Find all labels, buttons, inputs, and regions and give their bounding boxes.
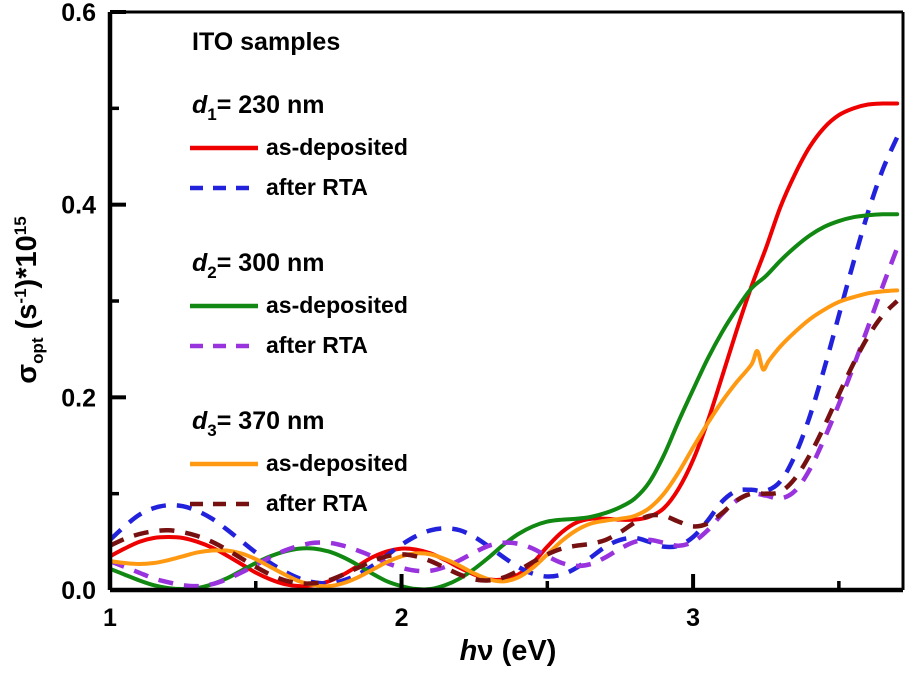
plot-annotation-title: ITO samples (192, 28, 340, 56)
legend-sample-value: = 230 nm (217, 91, 325, 119)
y-tick-label: 0.0 (61, 577, 96, 605)
legend-sample-subscript: 1 (207, 105, 216, 124)
x-tick-label: 1 (103, 604, 117, 632)
y-tick-label: 0.2 (61, 384, 96, 412)
y-axis-exp-15: 15 (11, 216, 30, 235)
legend-sample-symbol: d (192, 91, 208, 119)
legend-label-d2_as_deposited: as-deposited (266, 292, 408, 318)
svg-text:hν (eV): hν (eV) (460, 635, 557, 667)
x-axis-unit: (eV) (502, 635, 557, 667)
x-tick-label: 3 (686, 604, 700, 632)
legend-sample-symbol: d (192, 249, 208, 277)
x-axis-nu: ν (477, 635, 493, 667)
legend-label-d3_as_deposited: as-deposited (266, 450, 408, 476)
y-axis-exp-minus1: -1 (11, 288, 30, 303)
y-tick-label: 0.4 (61, 192, 96, 220)
x-axis-title: hν (eV) (460, 635, 557, 667)
svg-text:σopt (s-1)*1015: σopt (s-1)*1015 (11, 216, 47, 383)
legend-label-d1_after_rta: after RTA (266, 174, 368, 200)
chart-root: 1230.00.20.40.6 σopt (s-1)*1015 hν (eV) … (0, 0, 911, 675)
legend-sample-subscript: 2 (207, 263, 216, 282)
sigma-opt-vs-photon-energy-chart: 1230.00.20.40.6 σopt (s-1)*1015 hν (eV) … (0, 0, 911, 675)
y-axis-sigma: σ (11, 364, 43, 384)
y-axis-open: (s (11, 304, 43, 338)
y-axis-title: σopt (s-1)*1015 (11, 216, 47, 383)
legend-label-d2_after_rta: after RTA (266, 332, 368, 358)
legend-sample-symbol: d (192, 407, 208, 435)
y-axis-close: )*10 (11, 235, 43, 288)
legend-sample-subscript: 3 (207, 421, 216, 440)
legend-label-d3_after_rta: after RTA (266, 490, 368, 516)
y-tick-label: 0.6 (61, 0, 96, 27)
x-tick-label: 2 (395, 604, 409, 632)
y-axis-sub-opt: opt (28, 337, 47, 364)
legend-sample-value: = 300 nm (217, 249, 325, 277)
x-axis-h: h (460, 635, 478, 667)
legend-sample-value: = 370 nm (217, 407, 325, 435)
legend-label-d1_as_deposited: as-deposited (266, 134, 408, 160)
